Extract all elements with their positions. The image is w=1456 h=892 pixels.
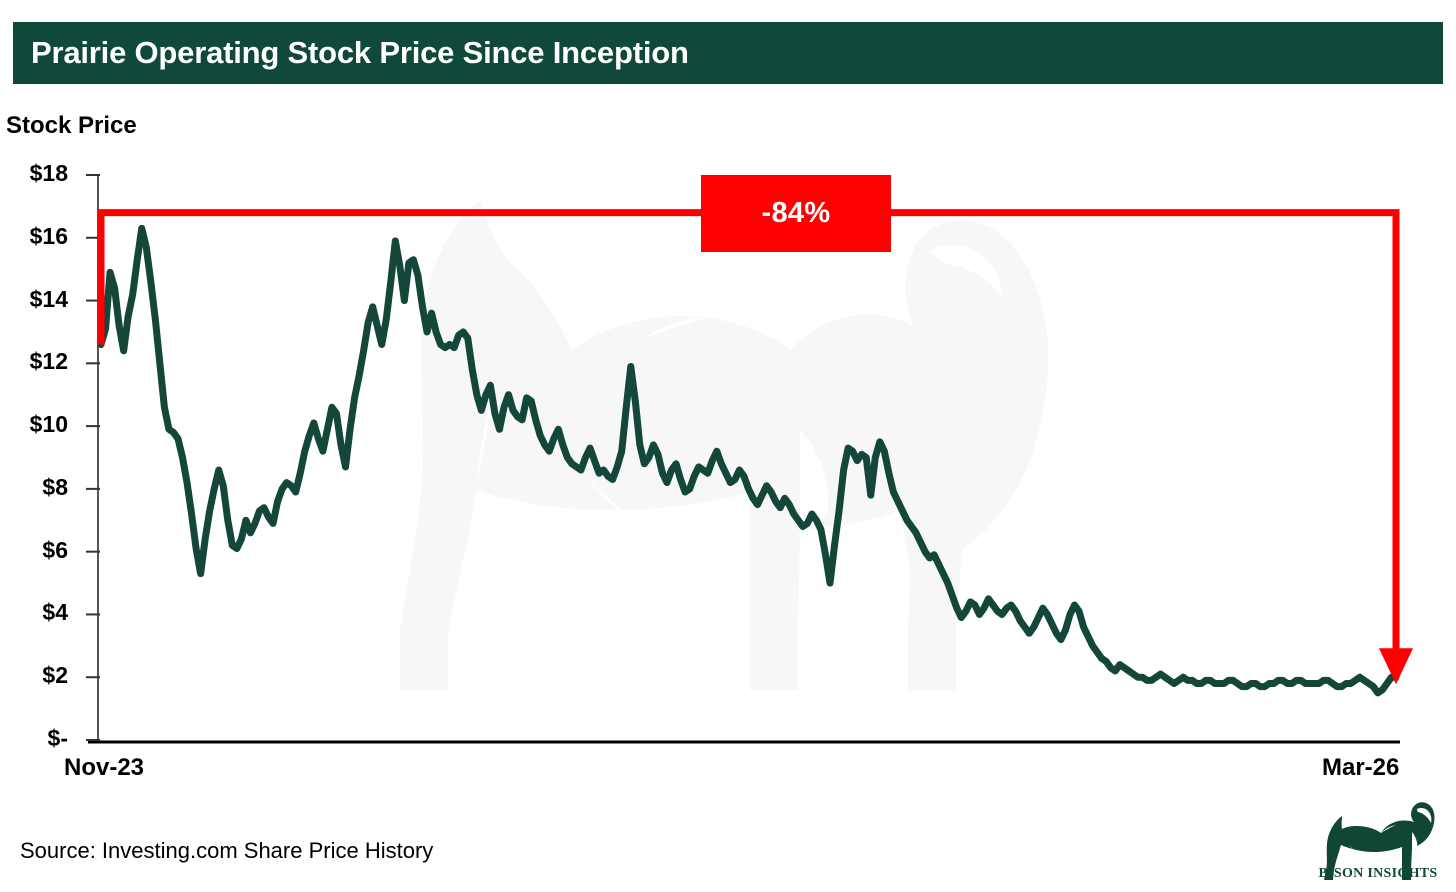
stock-price-line-chart: [0, 0, 1456, 892]
decline-callout-label: -84%: [762, 197, 831, 230]
decline-annotation-bracket: [101, 213, 1413, 685]
y-axis-tick-label: $10: [4, 411, 68, 438]
y-axis-tick-label: $-: [4, 725, 68, 752]
y-axis-tick-label: $6: [4, 537, 68, 564]
x-axis-tick-end: Mar-26: [1322, 754, 1399, 782]
y-axis-tick-label: $18: [4, 160, 68, 187]
source-note: Source: Investing.com Share Price Histor…: [20, 838, 433, 864]
y-axis-tick-label: $14: [4, 286, 68, 313]
y-axis-tick-label: $12: [4, 348, 68, 375]
x-axis-tick-start: Nov-23: [64, 754, 144, 782]
y-axis-tick-label: $8: [4, 474, 68, 501]
price-series-line: [101, 228, 1396, 693]
y-axis-tick-label: $2: [4, 662, 68, 689]
y-axis-tick-label: $4: [4, 599, 68, 626]
y-axis-tick-label: $16: [4, 223, 68, 250]
chart-page: Prairie Operating Stock Price Since Ince…: [0, 0, 1456, 892]
logo-wordmark: BISON INSIGHTS: [1318, 866, 1438, 882]
chart-plot-area: $18$16$14$12$10$8$6$4$2$- Nov-23 Mar-26 …: [0, 0, 1456, 892]
decline-callout-badge: -84%: [701, 175, 891, 252]
